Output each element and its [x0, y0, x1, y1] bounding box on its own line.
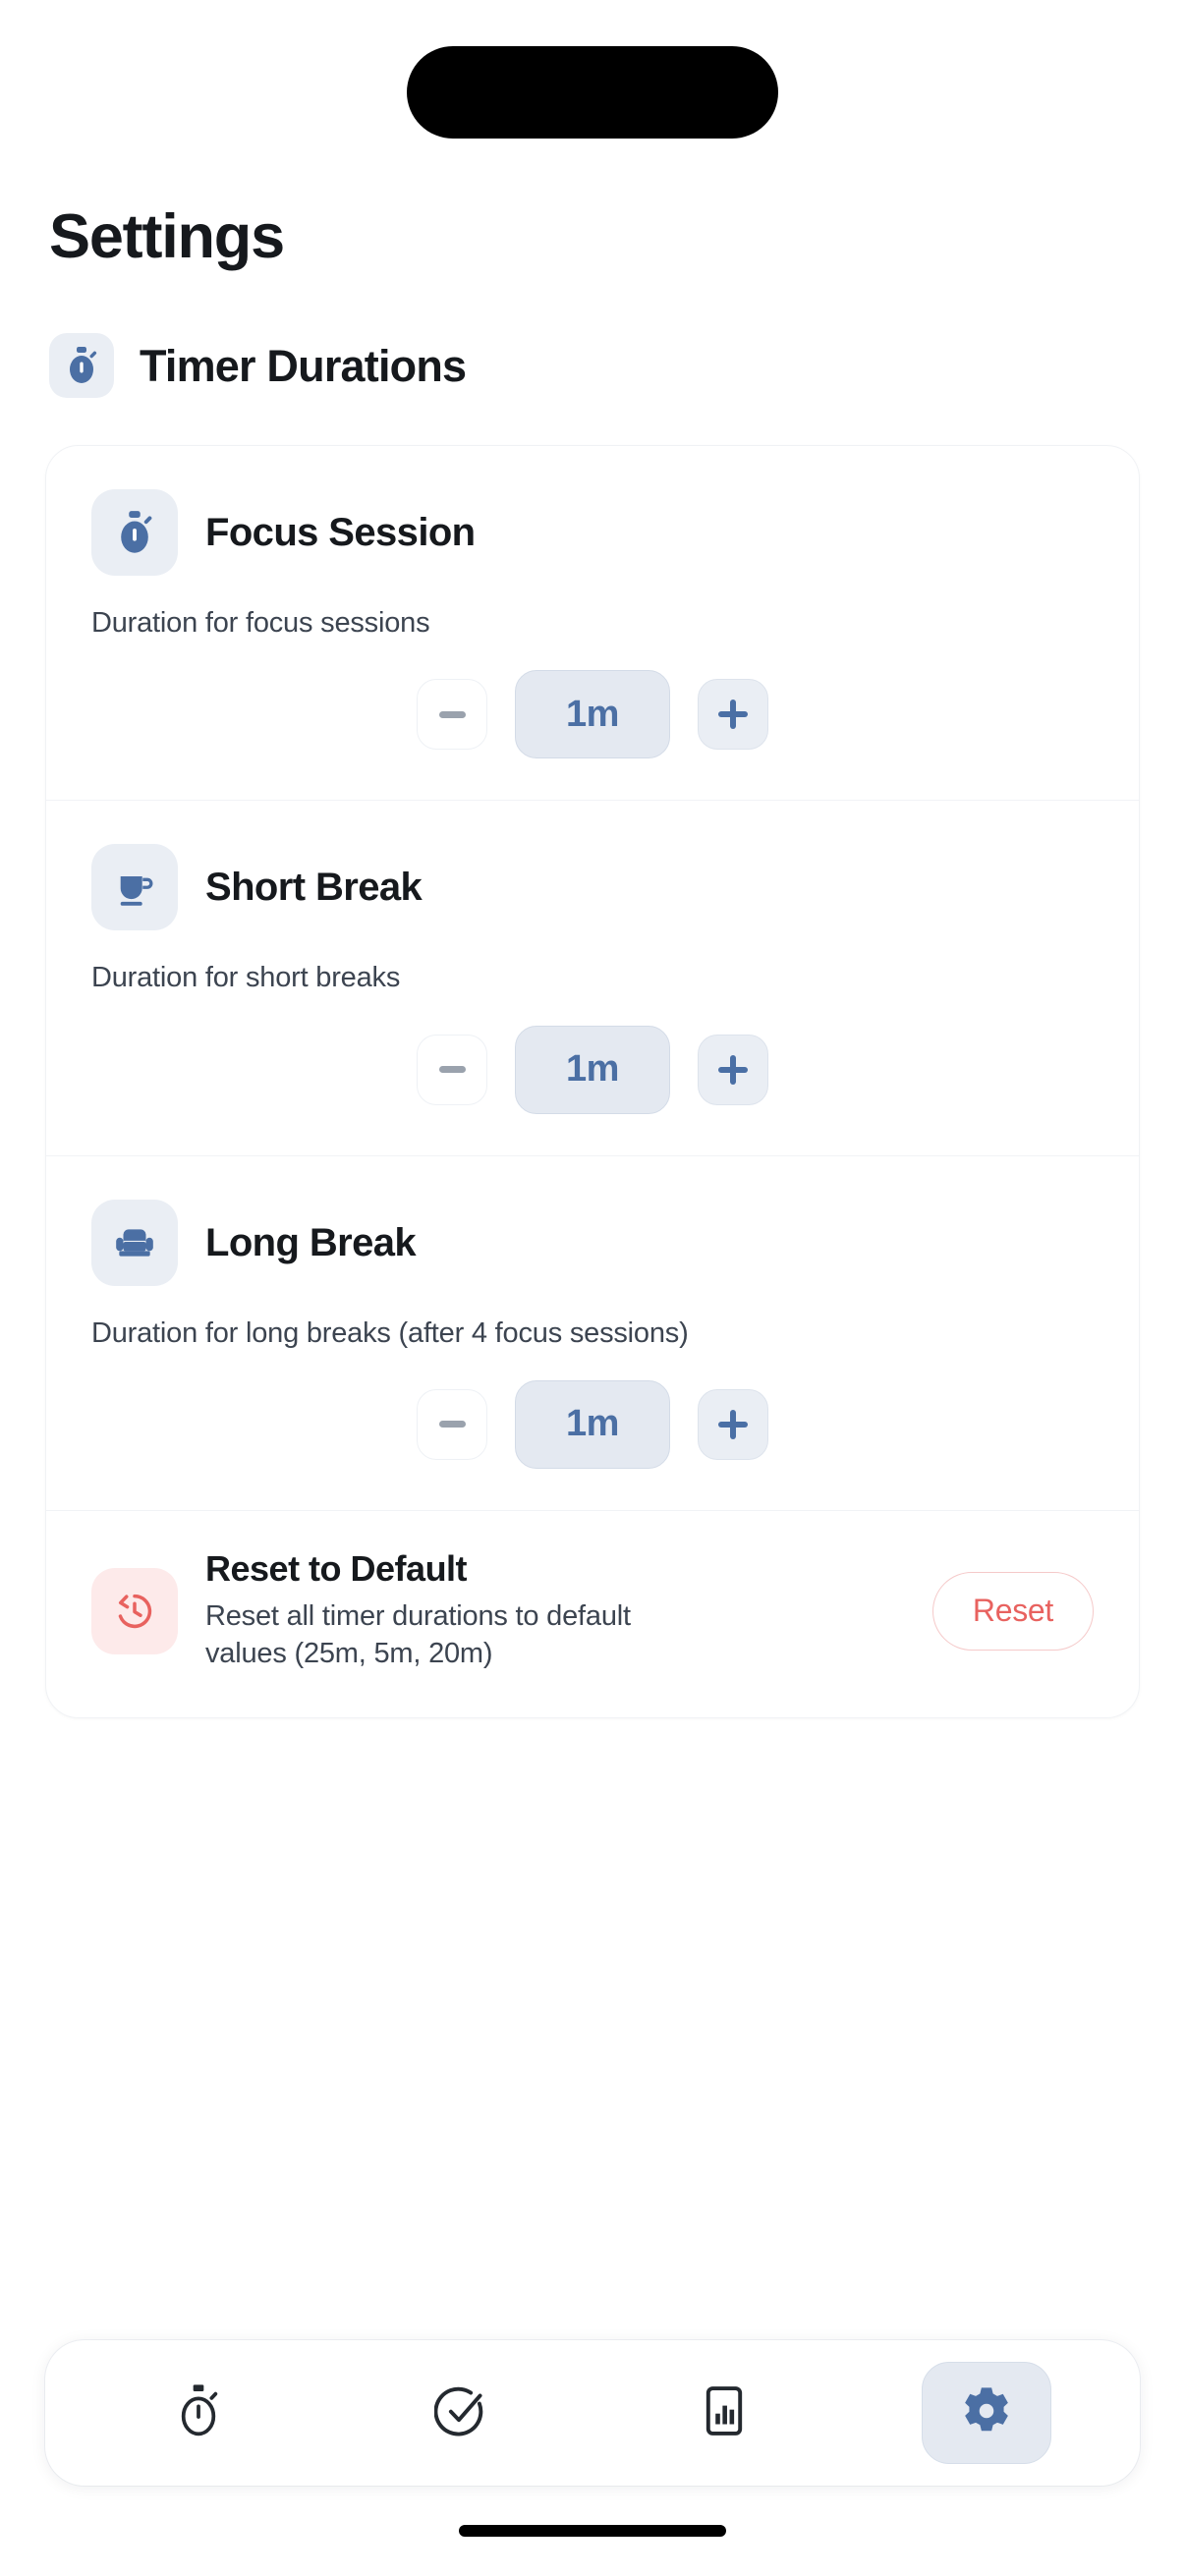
- status-bar: [0, 0, 1185, 145]
- minus-icon: [439, 1066, 466, 1073]
- stopwatch-icon: [49, 333, 114, 398]
- minus-icon: [439, 1421, 466, 1428]
- nav-item-settings[interactable]: [922, 2362, 1051, 2464]
- decrement-button[interactable]: [417, 1389, 487, 1460]
- timer-row-long-break: Long Break Duration for long breaks (aft…: [46, 1156, 1139, 1511]
- nav-item-timer[interactable]: [134, 2362, 263, 2464]
- dynamic-island: [407, 46, 778, 139]
- timer-title: Short Break: [205, 868, 422, 907]
- home-indicator-wrap: [0, 2486, 1185, 2576]
- plus-icon: [718, 1055, 748, 1085]
- duration-value[interactable]: 1m: [515, 1026, 670, 1114]
- increment-button[interactable]: [698, 1389, 768, 1460]
- nav-item-stats[interactable]: [659, 2362, 789, 2464]
- timer-settings-card: Focus Session Duration for focus session…: [45, 445, 1140, 1718]
- timer-row-short-break: Short Break Duration for short breaks 1m: [46, 801, 1139, 1155]
- armchair-icon: [91, 1200, 178, 1286]
- bottom-area: [0, 2340, 1185, 2576]
- history-clock-icon: [91, 1568, 178, 1654]
- duration-stepper: 1m: [91, 1380, 1094, 1469]
- reset-button[interactable]: Reset: [932, 1572, 1094, 1651]
- timer-description: Duration for focus sessions: [91, 605, 1094, 641]
- minus-icon: [439, 711, 466, 718]
- nav-item-tasks[interactable]: [396, 2362, 526, 2464]
- plus-icon: [718, 700, 748, 729]
- chart-stats-icon: [702, 2384, 747, 2442]
- timer-row-header: Focus Session: [91, 489, 1094, 576]
- reset-to-default-row: Reset to Default Reset all timer duratio…: [46, 1511, 1139, 1717]
- increment-button[interactable]: [698, 679, 768, 750]
- increment-button[interactable]: [698, 1035, 768, 1105]
- duration-value[interactable]: 1m: [515, 670, 670, 758]
- plus-icon: [718, 1410, 748, 1439]
- home-indicator[interactable]: [459, 2525, 726, 2537]
- timer-row-header: Short Break: [91, 844, 1094, 930]
- stopwatch-icon: [173, 2383, 224, 2443]
- duration-stepper: 1m: [91, 1026, 1094, 1114]
- timer-title: Long Break: [205, 1223, 416, 1262]
- decrement-button[interactable]: [417, 679, 487, 750]
- section-title: Timer Durations: [140, 344, 466, 388]
- timer-title: Focus Session: [205, 513, 476, 552]
- reset-title: Reset to Default: [205, 1550, 905, 1588]
- check-circle-icon: [434, 2384, 487, 2442]
- timer-description: Duration for short breaks: [91, 960, 1094, 995]
- timer-row-header: Long Break: [91, 1200, 1094, 1286]
- duration-value[interactable]: 1m: [515, 1380, 670, 1469]
- decrement-button[interactable]: [417, 1035, 487, 1105]
- timer-description: Duration for long breaks (after 4 focus …: [91, 1316, 1094, 1351]
- timer-row-focus-session: Focus Session Duration for focus session…: [46, 446, 1139, 801]
- coffee-cup-icon: [91, 844, 178, 930]
- reset-description: Reset all timer durations to default val…: [205, 1597, 667, 1673]
- duration-stepper: 1m: [91, 670, 1094, 758]
- stopwatch-icon: [91, 489, 178, 576]
- bottom-nav-bar: [45, 2340, 1140, 2486]
- reset-texts: Reset to Default Reset all timer duratio…: [205, 1550, 905, 1672]
- section-header-timer-durations: Timer Durations: [0, 268, 1185, 398]
- gear-icon: [960, 2384, 1013, 2442]
- page-title: Settings: [0, 145, 1185, 268]
